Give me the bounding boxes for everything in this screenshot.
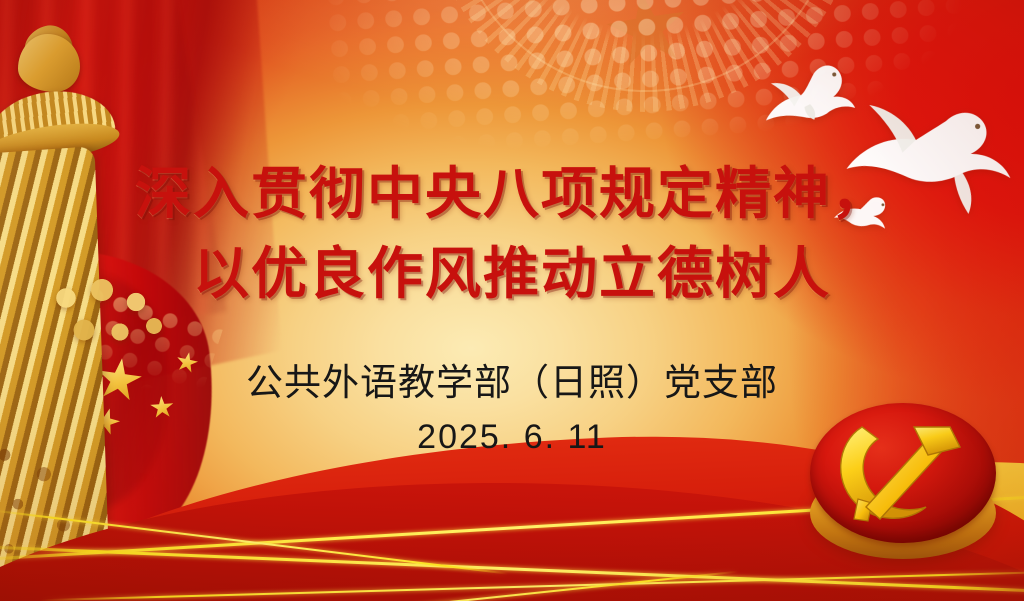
poster-title-line-2: 以优良作风推动立德树人	[193, 238, 831, 312]
poster-text-block: 深入贯彻中央八项规定精神， 以优良作风推动立德树人 公共外语教学部（日照）党支部…	[0, 0, 1024, 601]
poster-date: 2025. 6. 11	[417, 418, 607, 457]
poster-subtitle: 公共外语教学部（日照）党支部	[246, 352, 778, 406]
poster-slide: 深入贯彻中央八项规定精神， 以优良作风推动立德树人 公共外语教学部（日照）党支部…	[0, 0, 1024, 601]
poster-title-line-1: 深入贯彻中央八项规定精神，	[135, 158, 889, 232]
